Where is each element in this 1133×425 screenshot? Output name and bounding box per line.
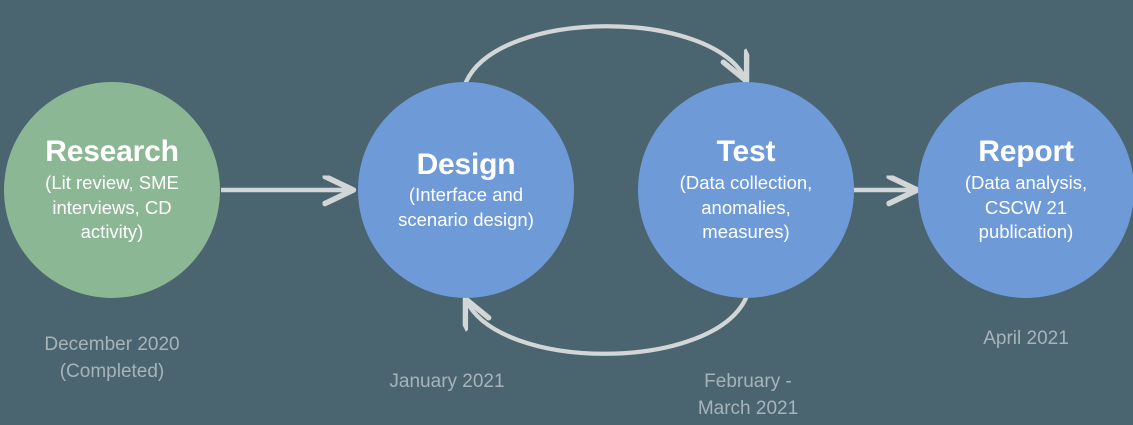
caption-research: December 2020 (Completed): [0, 332, 224, 386]
node-design-title: Design: [417, 148, 516, 182]
node-design[interactable]: Design (Interface and scenario design): [358, 82, 574, 298]
node-research-subtitle: (Lit review, SME interviews, CD activity…: [31, 171, 193, 245]
node-research-title: Research: [45, 135, 179, 169]
node-research[interactable]: Research (Lit review, SME interviews, CD…: [4, 82, 220, 298]
caption-test: February - March 2021: [636, 369, 860, 423]
connector-test-to-design: [466, 298, 746, 354]
node-test[interactable]: Test (Data collection, anomalies, measur…: [638, 82, 854, 298]
node-design-subtitle: (Interface and scenario design): [384, 183, 548, 232]
caption-report: April 2021: [914, 326, 1133, 353]
node-report-subtitle: (Data analysis, CSCW 21 publication): [951, 171, 1101, 245]
process-diagram: Research (Lit review, SME interviews, CD…: [0, 0, 1133, 425]
node-test-subtitle: (Data collection, anomalies, measures): [666, 171, 827, 245]
node-report[interactable]: Report (Data analysis, CSCW 21 publicati…: [918, 82, 1133, 298]
node-report-title: Report: [978, 135, 1073, 169]
connector-design-to-test: [466, 26, 746, 82]
node-test-title: Test: [717, 135, 776, 169]
caption-design: January 2021: [335, 369, 559, 396]
